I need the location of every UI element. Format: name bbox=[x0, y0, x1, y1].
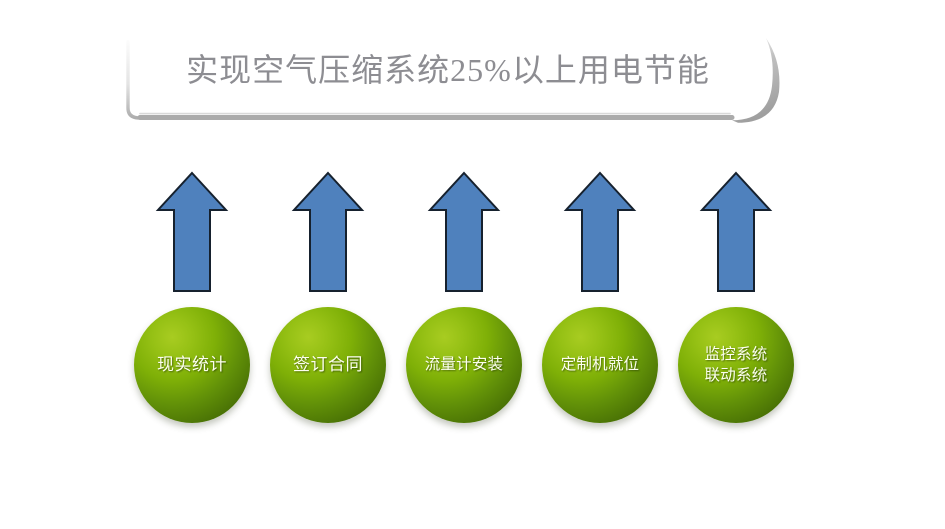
slide-canvas: 实现空气压缩系统25%以上用电节能 现实统计 签订合同 流量计安装 定制机就位 … bbox=[0, 0, 945, 529]
up-arrow-icon-1 bbox=[155, 170, 229, 294]
step-sphere-3[interactable]: 流量计安装 bbox=[406, 307, 522, 423]
page-title: 实现空气压缩系统25%以上用电节能 bbox=[128, 48, 768, 92]
step-sphere-5[interactable]: 监控系统 联动系统 bbox=[678, 307, 794, 423]
step-label-1: 现实统计 bbox=[157, 353, 227, 377]
step-label-3: 流量计安装 bbox=[425, 353, 504, 377]
up-arrow-icon-2 bbox=[291, 170, 365, 294]
title-banner: 实现空气压缩系统25%以上用电节能 bbox=[0, 0, 945, 150]
up-arrow-icon-4 bbox=[563, 170, 637, 294]
step-label-4: 定制机就位 bbox=[561, 353, 640, 377]
up-arrow-icon-3 bbox=[427, 170, 501, 294]
up-arrow-icon-5 bbox=[699, 170, 773, 294]
step-label-2: 签订合同 bbox=[293, 353, 363, 377]
step-sphere-1[interactable]: 现实统计 bbox=[134, 307, 250, 423]
step-label-5: 监控系统 联动系统 bbox=[705, 344, 768, 386]
step-sphere-2[interactable]: 签订合同 bbox=[270, 307, 386, 423]
step-sphere-4[interactable]: 定制机就位 bbox=[542, 307, 658, 423]
